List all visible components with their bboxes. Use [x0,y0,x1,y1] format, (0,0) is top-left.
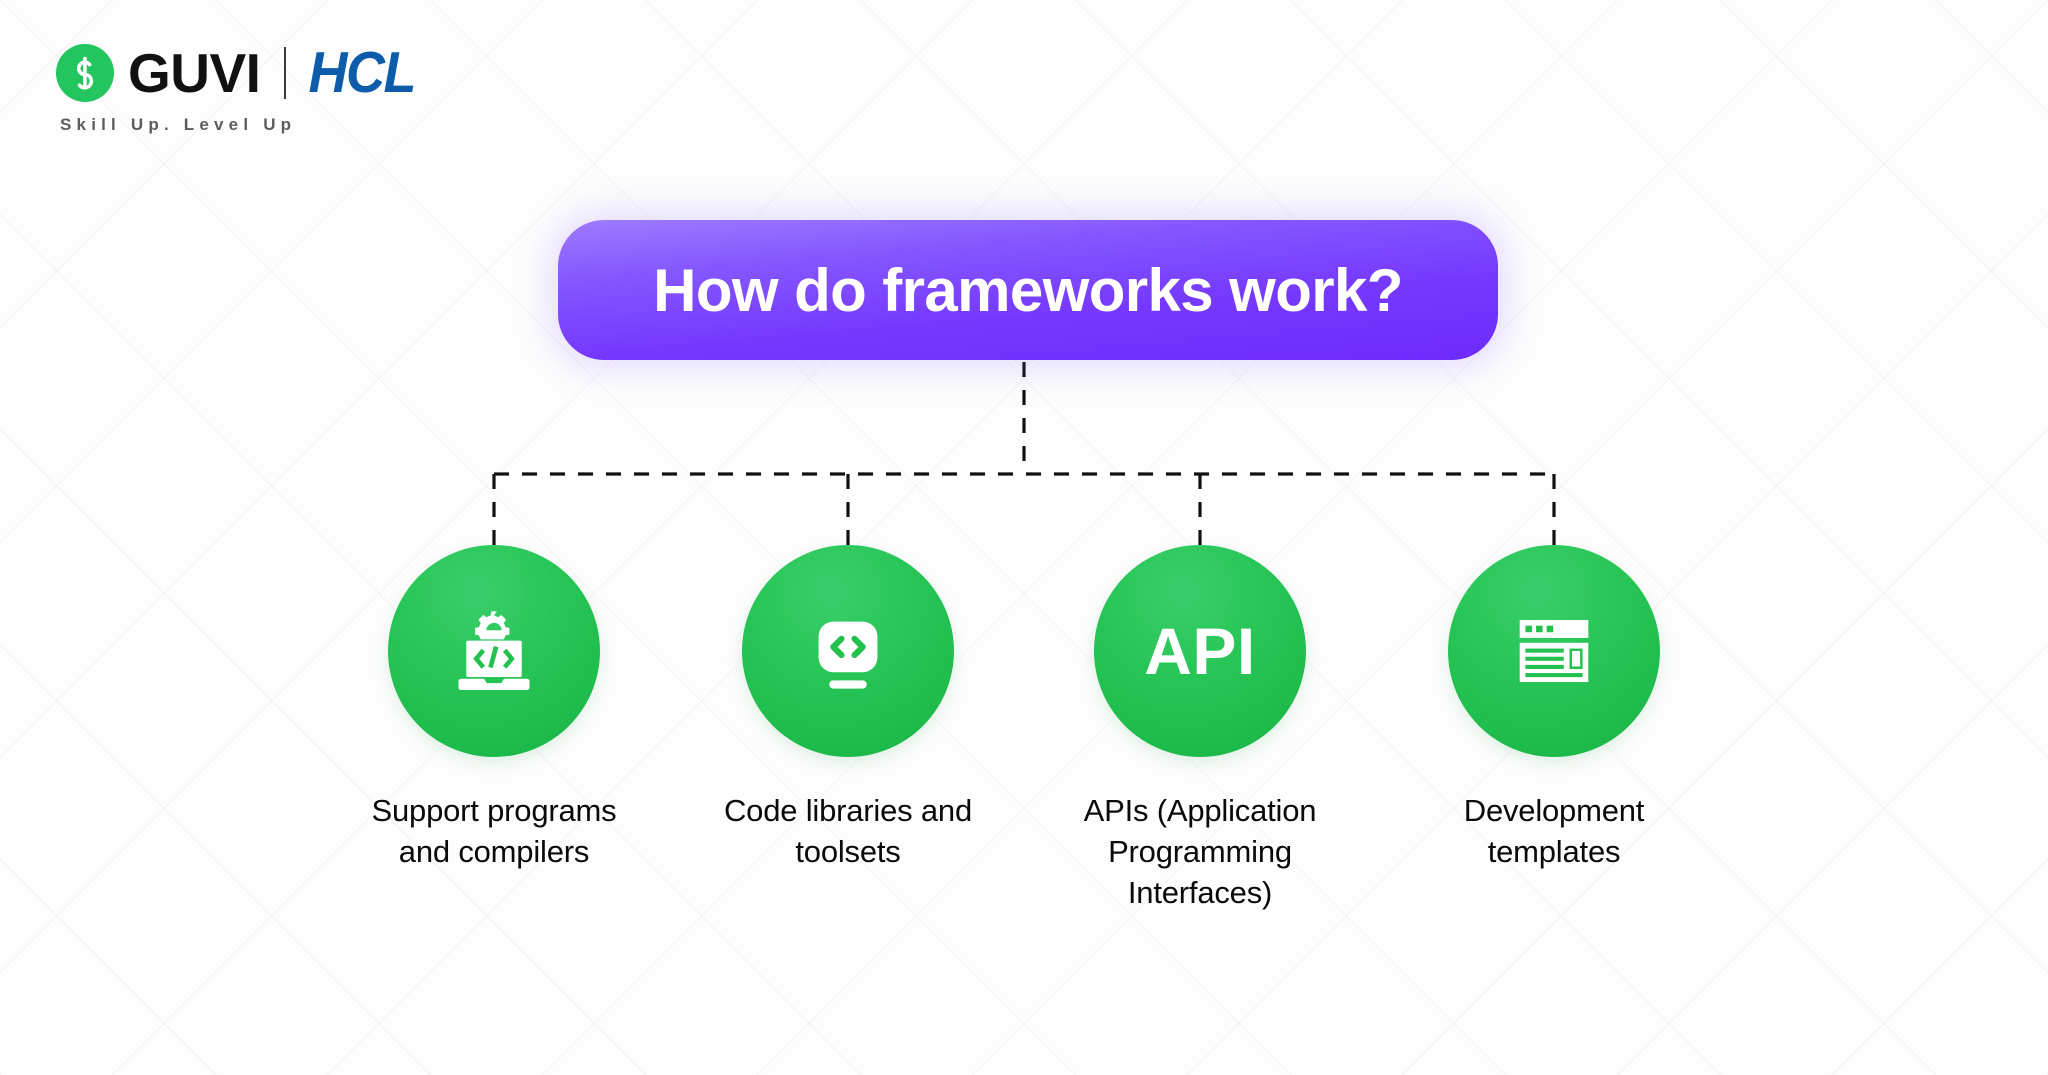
webpage-template-icon [1505,602,1603,700]
brand-divider [284,47,286,99]
node-icon-circle [388,545,600,757]
node-label: APIs (Application Programming Interfaces… [1057,790,1343,914]
title-banner: How do frameworks work? [558,220,1498,360]
monitor-code-brackets-icon [799,602,897,700]
api-text-icon: API [1144,618,1256,684]
node-icon-circle [1448,545,1660,757]
node-support-programs[interactable]: Support programs and compilers [351,545,637,872]
node-label: Development templates [1411,790,1697,872]
brand-header: GUVI HCL Skill Up. Level Up [56,42,415,135]
connector-lines [0,0,2048,1075]
brand-logo-row: GUVI HCL [56,42,415,104]
node-development-templates[interactable]: Development templates [1411,545,1697,872]
page-title: How do frameworks work? [653,256,1403,325]
node-label: Support programs and compilers [351,790,637,872]
laptop-code-gear-icon [442,599,546,703]
brand-tagline: Skill Up. Level Up [60,115,415,135]
node-icon-circle [742,545,954,757]
node-apis[interactable]: API APIs (Application Programming Interf… [1057,545,1343,914]
guvi-wordmark: GUVI [128,46,260,101]
node-icon-circle: API [1094,545,1306,757]
node-code-libraries[interactable]: Code libraries and toolsets [705,545,991,872]
hcl-wordmark: HCL [308,44,414,101]
node-label: Code libraries and toolsets [705,790,991,872]
guvi-g-logo-icon [56,44,114,102]
